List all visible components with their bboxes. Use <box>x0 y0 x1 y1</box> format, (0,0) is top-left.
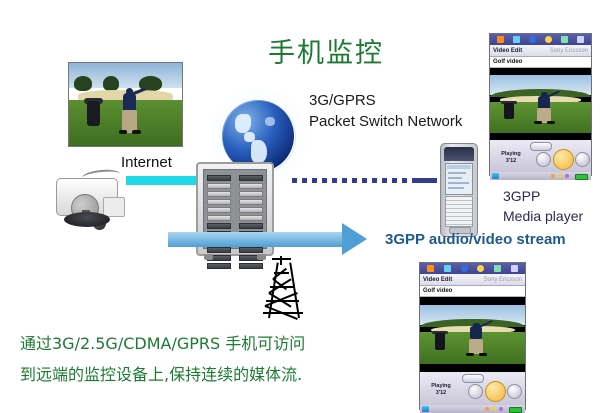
stream-arrow <box>168 232 343 247</box>
playback-time: 3'12 <box>494 158 528 165</box>
golf-bag <box>87 101 99 126</box>
server-foot <box>204 254 213 260</box>
pda-screenshot-top: Video Edit Sony Ericsson Golf video <box>489 33 592 176</box>
pda-menu-video-edit[interactable]: Video Edit <box>493 48 522 54</box>
pda-player-controls[interactable]: Playing 3'12 <box>490 140 591 172</box>
golfer-shoe <box>547 121 555 124</box>
pda-statusbar <box>490 172 591 180</box>
home-icon[interactable] <box>427 265 434 272</box>
battery-icon <box>509 407 522 413</box>
settings-icon[interactable] <box>444 265 451 272</box>
handset-screen-line <box>448 177 462 179</box>
handset-screen-line <box>448 187 464 189</box>
internet-label: Internet <box>121 154 172 171</box>
playback-state: Playing <box>494 151 528 158</box>
network-icon[interactable] <box>494 265 501 272</box>
playback-state: Playing <box>424 383 458 390</box>
tree <box>74 76 92 91</box>
tower-leg <box>289 263 300 319</box>
golfer-shoe <box>119 130 127 134</box>
camera-panel <box>103 197 125 217</box>
pda-statusbar <box>420 405 525 413</box>
pause-button[interactable] <box>485 381 506 402</box>
wireless-link-dotted <box>417 178 435 183</box>
apps-icon[interactable] <box>577 36 584 43</box>
network-label-line2: Packet Switch Network <box>309 111 462 132</box>
status-indicator <box>485 407 489 411</box>
stop-button[interactable] <box>468 384 483 399</box>
camera-stand <box>64 212 110 227</box>
playback-time: 3'12 <box>424 390 458 397</box>
slide-canvas: 手机监控 Internet <box>0 0 605 413</box>
tree <box>103 76 119 91</box>
network-label: 3G/GPRS Packet Switch Network <box>309 90 462 132</box>
pda-toolbar <box>420 263 525 274</box>
status-indicator <box>558 174 562 178</box>
pda-toolbar <box>490 34 591 45</box>
status-indicator <box>499 407 503 411</box>
stop-button[interactable] <box>536 152 551 167</box>
handset-earpiece <box>444 147 474 161</box>
apps-icon[interactable] <box>511 265 518 272</box>
handset-keypad <box>445 196 473 227</box>
pda-player-controls[interactable]: Playing 3'12 <box>420 372 525 405</box>
golfer-legs <box>469 339 483 355</box>
media-icon[interactable] <box>477 265 484 272</box>
status-indicator <box>565 174 569 178</box>
landmass <box>251 140 267 163</box>
cell-tower-icon <box>262 256 306 318</box>
page-title: 手机监控 <box>268 31 384 70</box>
phone-icon[interactable] <box>529 36 536 43</box>
pda-menu-video-edit[interactable]: Video Edit <box>423 277 452 283</box>
golfer-shoe <box>534 121 541 124</box>
pda-video-frame <box>490 75 591 133</box>
seek-bar[interactable] <box>462 374 484 383</box>
home-icon[interactable] <box>497 36 504 43</box>
media-icon[interactable] <box>545 36 552 43</box>
golf-bag <box>435 333 446 350</box>
handset-screen-line <box>448 172 466 174</box>
golfer-shoe <box>479 353 487 356</box>
media-player-label-line1: 3GPP <box>503 186 583 206</box>
source-video-thumbnail <box>68 62 183 147</box>
golf-bag <box>504 103 514 119</box>
golfer-shoe <box>466 353 473 356</box>
phone-icon[interactable] <box>461 265 468 272</box>
ip-camera-icon <box>44 168 132 230</box>
pda-clip-title: Golf video <box>420 286 525 297</box>
media-player-label-line2: Media player <box>503 206 583 226</box>
network-label-line1: 3G/GPRS <box>309 90 462 111</box>
pause-button[interactable] <box>553 149 574 170</box>
note-line-2: 到远端的监控设备上,保持连续的媒体流. <box>20 361 302 385</box>
settings-icon[interactable] <box>513 36 520 43</box>
back-button[interactable] <box>507 384 522 399</box>
pda-playback-status: Playing 3'12 <box>494 151 528 165</box>
stream-label: 3GPP audio/video stream <box>385 231 566 248</box>
battery-icon <box>575 174 588 180</box>
landmass <box>235 114 251 133</box>
back-button[interactable] <box>575 152 590 167</box>
handset-screen-line <box>448 182 469 184</box>
handset-screen-titlebar <box>447 165 471 169</box>
pda-menubar[interactable]: Video Edit Sony Ericsson <box>420 274 525 286</box>
handset-screen <box>445 163 473 195</box>
pda-video-area[interactable] <box>490 68 591 140</box>
tower-arm <box>272 258 291 260</box>
seek-bar[interactable] <box>530 142 552 151</box>
pda-clip-title: Golf video <box>490 57 591 68</box>
pda-menubar[interactable]: Video Edit Sony Ericsson <box>490 45 591 57</box>
pda-screenshot-bottom: Video Edit Sony Ericsson Golf video <box>419 262 526 410</box>
pda-menu-brand[interactable]: Sony Ericsson <box>484 277 522 283</box>
status-indicator <box>492 407 496 411</box>
signal-icon <box>422 406 429 412</box>
landmass <box>265 117 275 126</box>
mobile-handset-icon <box>440 143 478 237</box>
pda-video-frame <box>420 305 525 365</box>
note-line-1: 通过3G/2.5G/CDMA/GPRS 手机可访问 <box>20 330 305 354</box>
pda-menu-brand[interactable]: Sony Ericsson <box>550 48 588 54</box>
pda-playback-status: Playing 3'12 <box>424 383 458 397</box>
network-icon[interactable] <box>561 36 568 43</box>
pda-video-area[interactable] <box>420 297 525 372</box>
status-indicator <box>551 174 555 178</box>
media-player-label: 3GPP Media player <box>503 186 583 226</box>
golfer-shoe <box>132 130 141 134</box>
signal-icon <box>492 173 499 179</box>
